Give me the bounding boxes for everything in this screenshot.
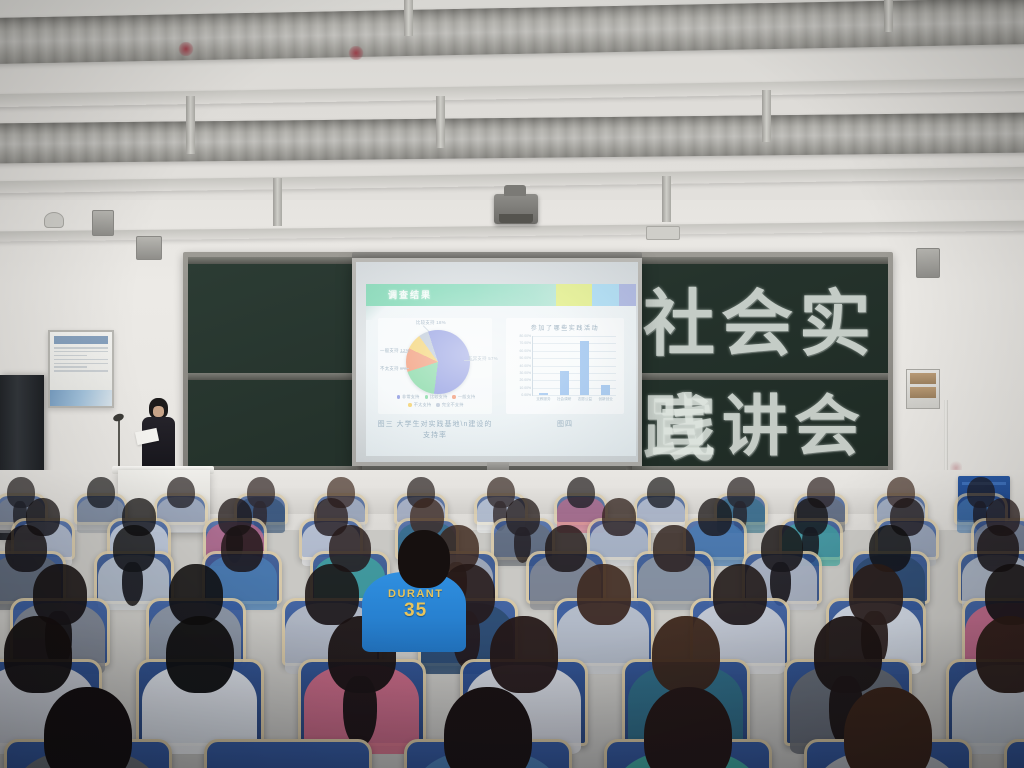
- duct-hanger: [273, 178, 282, 226]
- y-axis-tick: 70.00%: [520, 341, 532, 345]
- pie-legend: 非常支持比较支持一般支持不太支持完全不支持: [384, 394, 488, 408]
- legend-color-dot: [408, 403, 411, 406]
- y-axis-tick: 0.00%: [521, 393, 531, 397]
- duct-hanger: [186, 96, 195, 154]
- presenter-face: [153, 406, 164, 417]
- legend-label: 不太支持: [414, 402, 432, 408]
- breaker-row: [910, 387, 936, 398]
- person-head: [647, 477, 675, 509]
- presentation-slide: 调查结果 非常支持 57% 比较支持 18% 一般支持 12% 不太支持 8%: [366, 284, 636, 456]
- chalkboard-text-line2: 宣讲会: [650, 373, 866, 469]
- bar: [539, 393, 548, 395]
- x-axis-tick: 创新创业: [598, 397, 612, 402]
- seat: [1004, 739, 1024, 768]
- wall-notice-poster: [48, 330, 114, 408]
- person-head: [305, 564, 359, 625]
- person-head: [44, 687, 132, 768]
- left-chart-caption: 图三 大学生对实践基地\n建设的支持率: [376, 420, 494, 441]
- slide-header-color-blocks: [556, 284, 636, 306]
- audience-seating: DURANT35: [0, 468, 1024, 768]
- ceiling-sensor: [44, 212, 64, 228]
- person-head: [5, 525, 47, 572]
- y-axis-tick: 20.00%: [520, 378, 532, 382]
- bar: [580, 341, 589, 395]
- duct-hanger: [662, 176, 671, 222]
- legend-label: 一般支持: [458, 394, 476, 400]
- red-tassel: [348, 46, 364, 60]
- poster-text-line: [54, 370, 108, 372]
- jersey-head: [398, 530, 450, 588]
- person-head: [577, 564, 631, 625]
- x-axis-tick: 支教服务: [536, 397, 550, 402]
- gridline: [533, 358, 616, 359]
- poster-wave-graphic: [50, 390, 112, 406]
- poster-text-line: [54, 355, 87, 357]
- person-head: [221, 525, 263, 572]
- wall-speaker: [136, 236, 162, 260]
- slide-header-band: 调查结果: [366, 284, 636, 306]
- person-head: [602, 498, 636, 536]
- poster-text-line: [54, 347, 108, 349]
- person-head: [653, 525, 695, 572]
- duct-hanger: [884, 0, 893, 32]
- jersey-number: 35: [404, 600, 427, 622]
- pie-label-1: 比较支持 18%: [416, 320, 446, 327]
- person-head: [166, 616, 234, 693]
- gridline: [533, 343, 616, 344]
- pie-chart-panel: 非常支持 57% 比较支持 18% 一般支持 12% 不太支持 8% 非常支持比…: [378, 318, 492, 414]
- person-head: [698, 498, 732, 536]
- gridline: [533, 395, 616, 396]
- header-block-blue: [592, 284, 619, 306]
- gridline: [533, 336, 616, 337]
- person-head: [713, 564, 767, 625]
- legend-color-dot: [436, 403, 439, 406]
- wall-speaker: [92, 210, 114, 236]
- wall-speaker: [916, 248, 940, 278]
- pie-legend-item: 非常支持: [397, 394, 420, 400]
- jersey-text: DURANT: [388, 588, 443, 600]
- poster-header: [54, 336, 108, 344]
- red-tassel: [178, 42, 194, 56]
- duct-hanger: [404, 0, 413, 36]
- gridline: [533, 380, 616, 381]
- legend-color-dot: [425, 395, 428, 398]
- person-head: [844, 687, 932, 768]
- projection-screen: 调查结果 非常支持 57% 比较支持 18% 一般支持 12% 不太支持 8%: [352, 258, 642, 466]
- duct-hanger: [436, 96, 445, 148]
- pie-legend-item: 不太支持: [408, 402, 431, 408]
- slide-title: 调查结果: [388, 288, 432, 301]
- y-axis-tick: 30.00%: [520, 371, 532, 375]
- pie-legend-item: 一般支持: [452, 394, 475, 400]
- poster-text-line: [54, 351, 108, 353]
- seat: [204, 739, 372, 768]
- gridline: [533, 351, 616, 352]
- x-axis-tick: 社会调研: [557, 397, 571, 402]
- pie-legend-item: 完全不支持: [436, 402, 463, 408]
- y-axis-tick: 10.00%: [520, 386, 532, 390]
- bar-chart-plot: 80.00%70.00%60.00%50.00%40.00%30.00%20.0…: [532, 336, 616, 396]
- person-head: [167, 477, 195, 509]
- pie-legend-item: 比较支持: [425, 394, 448, 400]
- person-head: [4, 616, 72, 693]
- poster-text-line: [54, 359, 108, 361]
- caption-line: 图三 大学生对实践基地\n建设的支持率: [376, 420, 494, 441]
- y-axis-tick: 80.00%: [520, 334, 532, 338]
- pie-label-3: 不太支持 8%: [380, 366, 407, 373]
- ceiling-projector: [494, 194, 538, 224]
- legend-color-dot: [452, 395, 455, 398]
- person-head: [652, 616, 720, 693]
- person-head: [490, 616, 558, 693]
- right-chart-caption: 图四: [506, 420, 624, 431]
- bar: [601, 385, 610, 395]
- bar-chart-panel: 参加了哪些实践活动 80.00%70.00%60.00%50.00%40.00%…: [506, 318, 624, 414]
- y-axis-tick: 40.00%: [520, 364, 532, 368]
- x-axis-tick: 志愿公益: [578, 397, 592, 402]
- gridline: [533, 366, 616, 367]
- lecture-hall-photo: 社会实践 宣讲会 调查结果: [0, 0, 1024, 768]
- poster-text-line: [54, 366, 87, 368]
- pie-leader-line: [464, 360, 474, 361]
- bar: [560, 371, 569, 395]
- breaker-row: [910, 373, 936, 384]
- legend-label: 完全不支持: [442, 402, 464, 408]
- person-head: [87, 477, 115, 509]
- poster-text-line: [54, 363, 108, 365]
- person-head: [545, 525, 587, 572]
- pie-leader-line: [400, 368, 409, 369]
- presenter: [138, 398, 178, 476]
- header-block-yellow: [556, 284, 592, 306]
- y-axis-tick: 50.00%: [520, 356, 532, 360]
- wall-vent: [646, 226, 680, 240]
- electrical-panel: [906, 369, 940, 409]
- pie-leader-line: [400, 352, 408, 353]
- y-axis-tick: 60.00%: [520, 349, 532, 353]
- pie-graphic: [406, 330, 470, 394]
- legend-label: 非常支持: [402, 394, 420, 400]
- bar-chart-title: 参加了哪些实践活动: [506, 323, 624, 332]
- person-head: [567, 477, 595, 509]
- legend-color-dot: [397, 395, 400, 398]
- header-block-lavender: [619, 284, 636, 306]
- legend-label: 比较支持: [430, 394, 448, 400]
- person-head: [976, 616, 1024, 693]
- duct-hanger: [762, 90, 771, 142]
- gridline: [533, 373, 616, 374]
- pie-chart: 非常支持 57% 比较支持 18% 一般支持 12% 不太支持 8%: [406, 330, 470, 394]
